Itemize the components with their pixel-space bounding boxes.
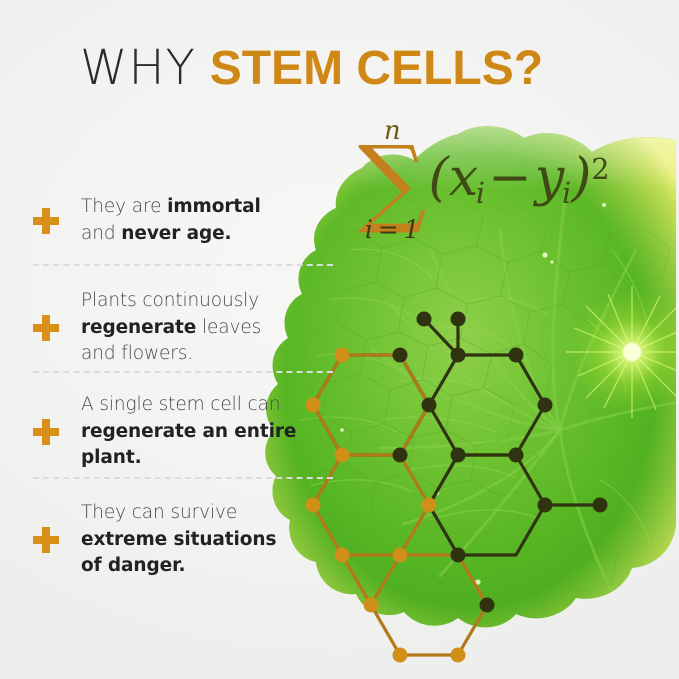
benefit-item-3: A single stem cell canregenerate an enti… xyxy=(33,392,338,472)
title-bold-part: STEM CELLS? xyxy=(210,42,543,95)
normal-text: Plants continuously xyxy=(81,290,259,311)
benefit-line: extreme situations xyxy=(81,527,276,554)
benefit-text-3: A single stem cell canregenerate an enti… xyxy=(81,392,296,472)
benefit-line: Plants continuously xyxy=(81,288,261,315)
normal-text: and flowers. xyxy=(81,343,193,364)
benefit-line: They are immortal xyxy=(81,194,261,221)
emphasis-text: immortal xyxy=(167,196,261,217)
benefit-line: plant. xyxy=(81,445,296,472)
list-separator-1 xyxy=(33,264,333,266)
benefit-text-2: Plants continuouslyregenerate leavesand … xyxy=(81,288,261,368)
molecule-nodes xyxy=(306,312,608,663)
page-title: WHY STEM CELLS? xyxy=(80,44,543,93)
list-separator-3 xyxy=(33,477,333,479)
title-thin-part: WHY xyxy=(80,40,196,96)
plus-icon xyxy=(33,208,59,234)
benefit-line: of danger. xyxy=(81,553,276,580)
benefit-item-1: They are immortaland never age. xyxy=(33,194,338,247)
emphasis-text: never age. xyxy=(121,223,231,244)
emphasis-text: regenerate xyxy=(81,317,196,338)
benefit-item-2: Plants continuouslyregenerate leavesand … xyxy=(33,288,338,368)
plus-icon xyxy=(33,419,59,445)
emphasis-text: regenerate an entire xyxy=(81,421,296,442)
benefit-line: and never age. xyxy=(81,221,261,248)
molecule-bonds-orange xyxy=(313,355,487,655)
list-separator-2 xyxy=(33,371,333,373)
normal-text: and xyxy=(81,223,121,244)
benefit-line: They can survive xyxy=(81,500,276,527)
benefit-line: regenerate an entire xyxy=(81,419,296,446)
normal-text: leaves xyxy=(196,317,261,338)
plus-icon xyxy=(33,527,59,553)
benefit-line: regenerate leaves xyxy=(81,315,261,342)
benefit-line: and flowers. xyxy=(81,341,261,368)
benefit-item-4: They can surviveextreme situationsof dan… xyxy=(33,500,338,580)
normal-text: They are xyxy=(81,196,167,217)
plus-icon xyxy=(33,315,59,341)
normal-text: They can survive xyxy=(81,502,237,523)
normal-text: A single stem cell can xyxy=(81,394,280,415)
emphasis-text: plant. xyxy=(81,447,142,468)
benefit-text-4: They can surviveextreme situationsof dan… xyxy=(81,500,276,580)
benefit-line: A single stem cell can xyxy=(81,392,296,419)
emphasis-text: of danger. xyxy=(81,555,185,576)
poster-canvas: n ∑ i = 1 (xi−yi)2 WHY STEM CELLS? They … xyxy=(0,0,679,679)
emphasis-text: extreme situations xyxy=(81,529,276,550)
benefit-text-1: They are immortaland never age. xyxy=(81,194,261,247)
